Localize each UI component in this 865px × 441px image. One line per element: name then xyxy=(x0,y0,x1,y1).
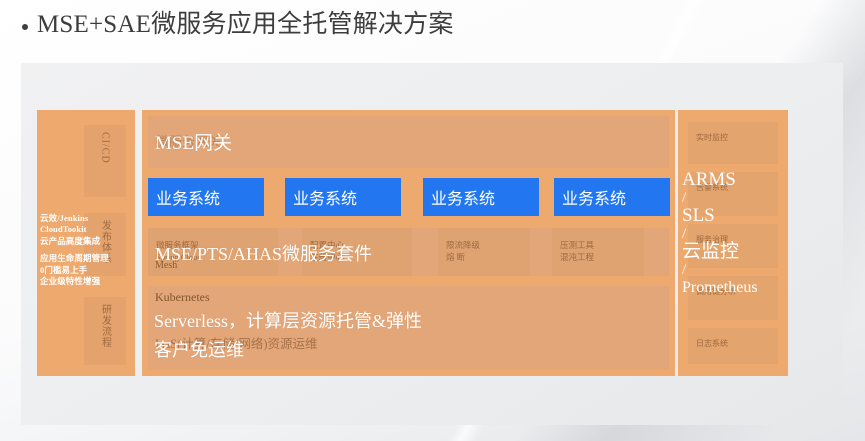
left-label-ci-cd: CI/CD xyxy=(99,132,112,164)
serverless-line-2: 客户免运维 xyxy=(154,336,244,362)
left-description-block: 云效/Jenkins CloudTookit 云产品高度集成 应用生命周期管理 … xyxy=(40,213,135,287)
left-desc-line-1: 云效/Jenkins xyxy=(40,213,135,224)
left-box-dev-process: 研发流程 xyxy=(84,297,126,365)
suite-box-flow-control: 限流降级 熔 断 xyxy=(438,228,530,276)
mesh-label: Mesh xyxy=(155,260,177,271)
gateway-title: MSE网关 xyxy=(155,128,232,155)
suite-label-stress-test: 压测工具 混沌工程 xyxy=(560,240,594,263)
suite-box-stress-test: 压测工具 混沌工程 xyxy=(552,228,644,276)
product-prometheus: Prometheus xyxy=(682,278,758,298)
right-observability-column: 实时监控 告警系统 服务治理 调用链分析 日志系统 ARMS / SLS / 云… xyxy=(678,110,788,376)
business-system-label-3: 业务系统 xyxy=(431,185,495,209)
serverless-line-1: Serverless，计算层资源托管&弹性 xyxy=(154,307,422,333)
business-system-box-4[interactable]: 业务系统 xyxy=(554,178,670,216)
middle-architecture-column: 微服务网关 MSE网关 业务系统 业务系统 业务系统 业务系统 微服务框架 Sp… xyxy=(142,110,675,376)
left-desc-line-2: CloudTookit xyxy=(40,224,135,235)
left-label-dev-process: 研发流程 xyxy=(99,304,112,348)
left-devops-column: CI/CD 发布体系 研发流程 云效/Jenkins CloudTookit 云… xyxy=(37,110,135,376)
business-system-label-4: 业务系统 xyxy=(562,185,626,209)
business-system-box-2[interactable]: 业务系统 xyxy=(285,178,401,216)
microservice-suite-title: MSE/PTS/AHAS微服务套件 xyxy=(155,240,372,266)
product-sls: SLS xyxy=(682,206,758,226)
left-desc-line-3: 云产品高度集成 xyxy=(40,236,135,247)
left-desc-line-4: 应用生命周期管理 xyxy=(40,253,135,264)
business-system-box-1[interactable]: 业务系统 xyxy=(148,178,264,216)
page-title-text: MSE+SAE微服务应用全托管解决方案 xyxy=(37,10,454,40)
left-desc-line-5: 0门槛易上手 xyxy=(40,265,135,276)
right-label-log-system: 日志系统 xyxy=(696,338,728,349)
bullet-icon xyxy=(22,24,28,30)
right-label-realtime-monitor: 实时监控 xyxy=(696,132,728,143)
observability-products-overlay: ARMS / SLS / 云监控 / Prometheus xyxy=(682,170,758,298)
business-system-box-3[interactable]: 业务系统 xyxy=(423,178,539,216)
business-system-label-1: 业务系统 xyxy=(156,185,220,209)
product-arms: ARMS xyxy=(682,170,758,190)
page-title: MSE+SAE微服务应用全托管解决方案 xyxy=(22,10,454,40)
separator-2: / xyxy=(682,226,758,242)
left-box-ci-cd: CI/CD xyxy=(84,125,126,197)
kubernetes-ghost-title: Kubernetes xyxy=(155,292,210,303)
separator-1: / xyxy=(682,190,758,206)
right-box-realtime-monitor: 实时监控 xyxy=(688,122,778,164)
slide-canvas: MSE+SAE微服务应用全托管解决方案 CI/CD 发布体系 研发流程 云效/J… xyxy=(0,0,865,441)
product-cloud-monitor: 云监控 xyxy=(682,242,758,262)
left-desc-line-6: 企业级特性增强 xyxy=(40,276,135,287)
right-box-log-system: 日志系统 xyxy=(688,328,778,364)
business-system-label-2: 业务系统 xyxy=(293,185,357,209)
suite-label-flow-control: 限流降级 熔 断 xyxy=(446,240,480,263)
separator-3: / xyxy=(682,262,758,278)
